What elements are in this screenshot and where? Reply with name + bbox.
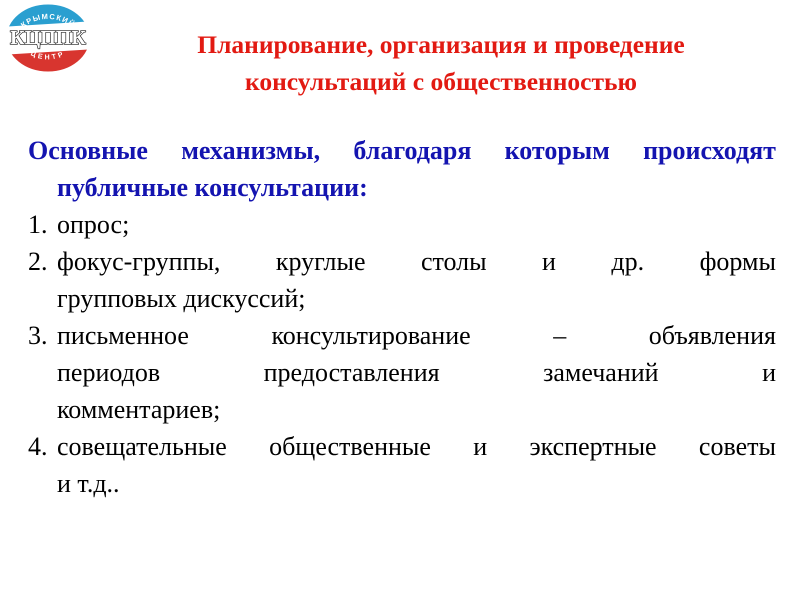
list-word: консультирование xyxy=(271,317,470,354)
intro-word: которым xyxy=(505,132,610,169)
list-word: замечаний xyxy=(543,354,659,391)
slide-title: Планирование, организация и проведение к… xyxy=(96,26,786,100)
list-word: и xyxy=(762,354,776,391)
list-item-number: 4. xyxy=(28,428,54,465)
list-word: периодов xyxy=(57,354,160,391)
list-word: фокус-группы, xyxy=(57,243,220,280)
list-word: столы xyxy=(421,243,487,280)
slide-title-line-1: Планирование, организация и проведение xyxy=(96,26,786,63)
intro-word: механизмы, xyxy=(181,132,320,169)
list-item: 4.совещательныеобщественныеиэкспертныесо… xyxy=(28,428,776,502)
slide-canvas: КРЫМСКИЙ ЦЕНТР КЦППК Планирование, орган… xyxy=(0,0,800,600)
kcppk-logo: КРЫМСКИЙ ЦЕНТР КЦППК xyxy=(5,3,91,73)
list-word: предоставления xyxy=(264,354,440,391)
slide-title-line-2: консультаций с общественностью xyxy=(96,63,786,100)
list-word: экспертные xyxy=(530,428,657,465)
list-word: др. xyxy=(611,243,644,280)
slide-body: Основныемеханизмы,благодарякоторымпроисх… xyxy=(28,132,776,502)
list-item-line: групповых дискуссий; xyxy=(57,280,776,317)
list-word: и xyxy=(473,428,487,465)
logo-center-text: КЦППК xyxy=(10,27,86,49)
list-item-number: 1. xyxy=(28,206,54,243)
list-word: совещательные xyxy=(57,428,227,465)
logo-graphic: КРЫМСКИЙ ЦЕНТР КЦППК xyxy=(5,3,91,73)
list-word: – xyxy=(553,317,566,354)
list-item: 1.опрос; xyxy=(28,206,776,243)
intro-word: Основные xyxy=(28,132,148,169)
list-item: 3.письменноеконсультирование–объявленияп… xyxy=(28,317,776,428)
list-word: формы xyxy=(700,243,776,280)
intro-word: происходят xyxy=(643,132,776,169)
list-word: объявления xyxy=(649,317,776,354)
intro-line-2: публичные консультации: xyxy=(28,169,776,206)
list-word: письменное xyxy=(57,317,189,354)
list-word: и xyxy=(542,243,556,280)
list-item: 2.фокус-группы,круглыестолыидр.формыгруп… xyxy=(28,243,776,317)
mechanisms-list: 1.опрос;2.фокус-группы,круглыестолыидр.ф… xyxy=(28,206,776,502)
intro-line-1: Основныемеханизмы,благодарякоторымпроисх… xyxy=(28,132,776,169)
list-item-line: фокус-группы,круглыестолыидр.формы xyxy=(57,243,776,280)
list-word: круглые xyxy=(276,243,366,280)
list-item-number: 2. xyxy=(28,243,54,280)
list-item-line: письменноеконсультирование–объявления xyxy=(57,317,776,354)
list-item-line: опрос; xyxy=(57,206,776,243)
list-item-line: совещательныеобщественныеиэкспертныесове… xyxy=(57,428,776,465)
list-item-line: комментариев; xyxy=(57,391,776,428)
list-item-number: 3. xyxy=(28,317,54,354)
list-item-line: и т.д.. xyxy=(57,465,776,502)
list-word: советы xyxy=(699,428,776,465)
list-item-line: периодовпредоставлениязамечанийи xyxy=(57,354,776,391)
list-word: общественные xyxy=(269,428,431,465)
intro-word: благодаря xyxy=(353,132,471,169)
intro-paragraph: Основныемеханизмы,благодарякоторымпроисх… xyxy=(28,132,776,206)
